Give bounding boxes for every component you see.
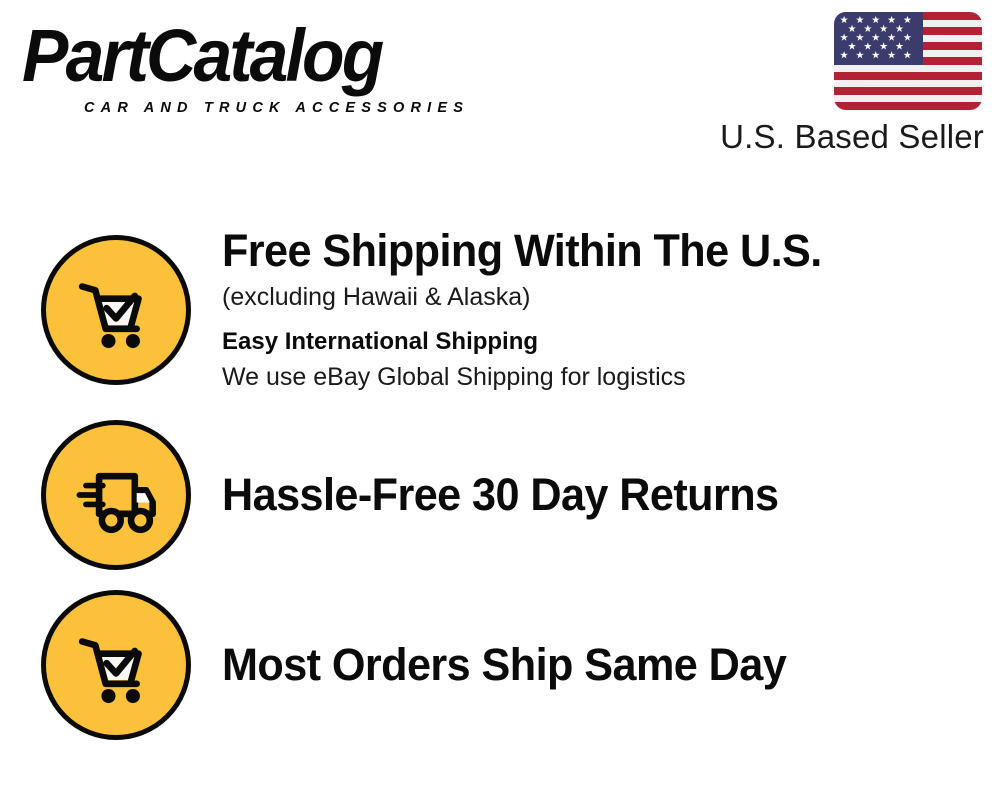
shopping-cart-check-icon bbox=[41, 235, 191, 385]
shopping-cart-check-icon bbox=[41, 590, 191, 740]
flag-canton bbox=[834, 12, 923, 65]
brand-logo: PartCatalog CAR AND TRUCK ACCESSORIES bbox=[22, 18, 492, 118]
feature-text: Most Orders Ship Same Day bbox=[222, 640, 1000, 690]
feature-text: Hassle-Free 30 Day Returns bbox=[222, 470, 1000, 520]
us-flag-icon bbox=[834, 12, 982, 110]
feature-row: Hassle-Free 30 Day Returns bbox=[0, 415, 1000, 575]
feature-title: Free Shipping Within The U.S. bbox=[222, 226, 950, 276]
feature-subtitle: (excluding Hawaii & Alaska) bbox=[222, 280, 980, 314]
feature-row: Most Orders Ship Same Day bbox=[0, 585, 1000, 745]
feature-secondary-subtitle: We use eBay Global Shipping for logistic… bbox=[222, 360, 980, 394]
brand-wordmark: PartCatalog bbox=[22, 18, 381, 94]
delivery-truck-icon bbox=[41, 420, 191, 570]
feature-secondary-title: Easy International Shipping bbox=[222, 326, 980, 358]
brand-tagline: CAR AND TRUCK ACCESSORIES bbox=[84, 100, 469, 116]
feature-text: Free Shipping Within The U.S. (excluding… bbox=[222, 226, 1000, 394]
feature-row: Free Shipping Within The U.S. (excluding… bbox=[0, 215, 1000, 405]
feature-title: Hassle-Free 30 Day Returns bbox=[222, 470, 950, 520]
seller-label: U.S. Based Seller bbox=[720, 117, 984, 157]
banner-header: PartCatalog CAR AND TRUCK ACCESSORIES bbox=[0, 0, 1000, 175]
promo-banner: PartCatalog CAR AND TRUCK ACCESSORIES bbox=[0, 0, 1000, 800]
feature-title: Most Orders Ship Same Day bbox=[222, 640, 950, 690]
us-based-seller-badge: U.S. Based Seller bbox=[710, 12, 990, 162]
